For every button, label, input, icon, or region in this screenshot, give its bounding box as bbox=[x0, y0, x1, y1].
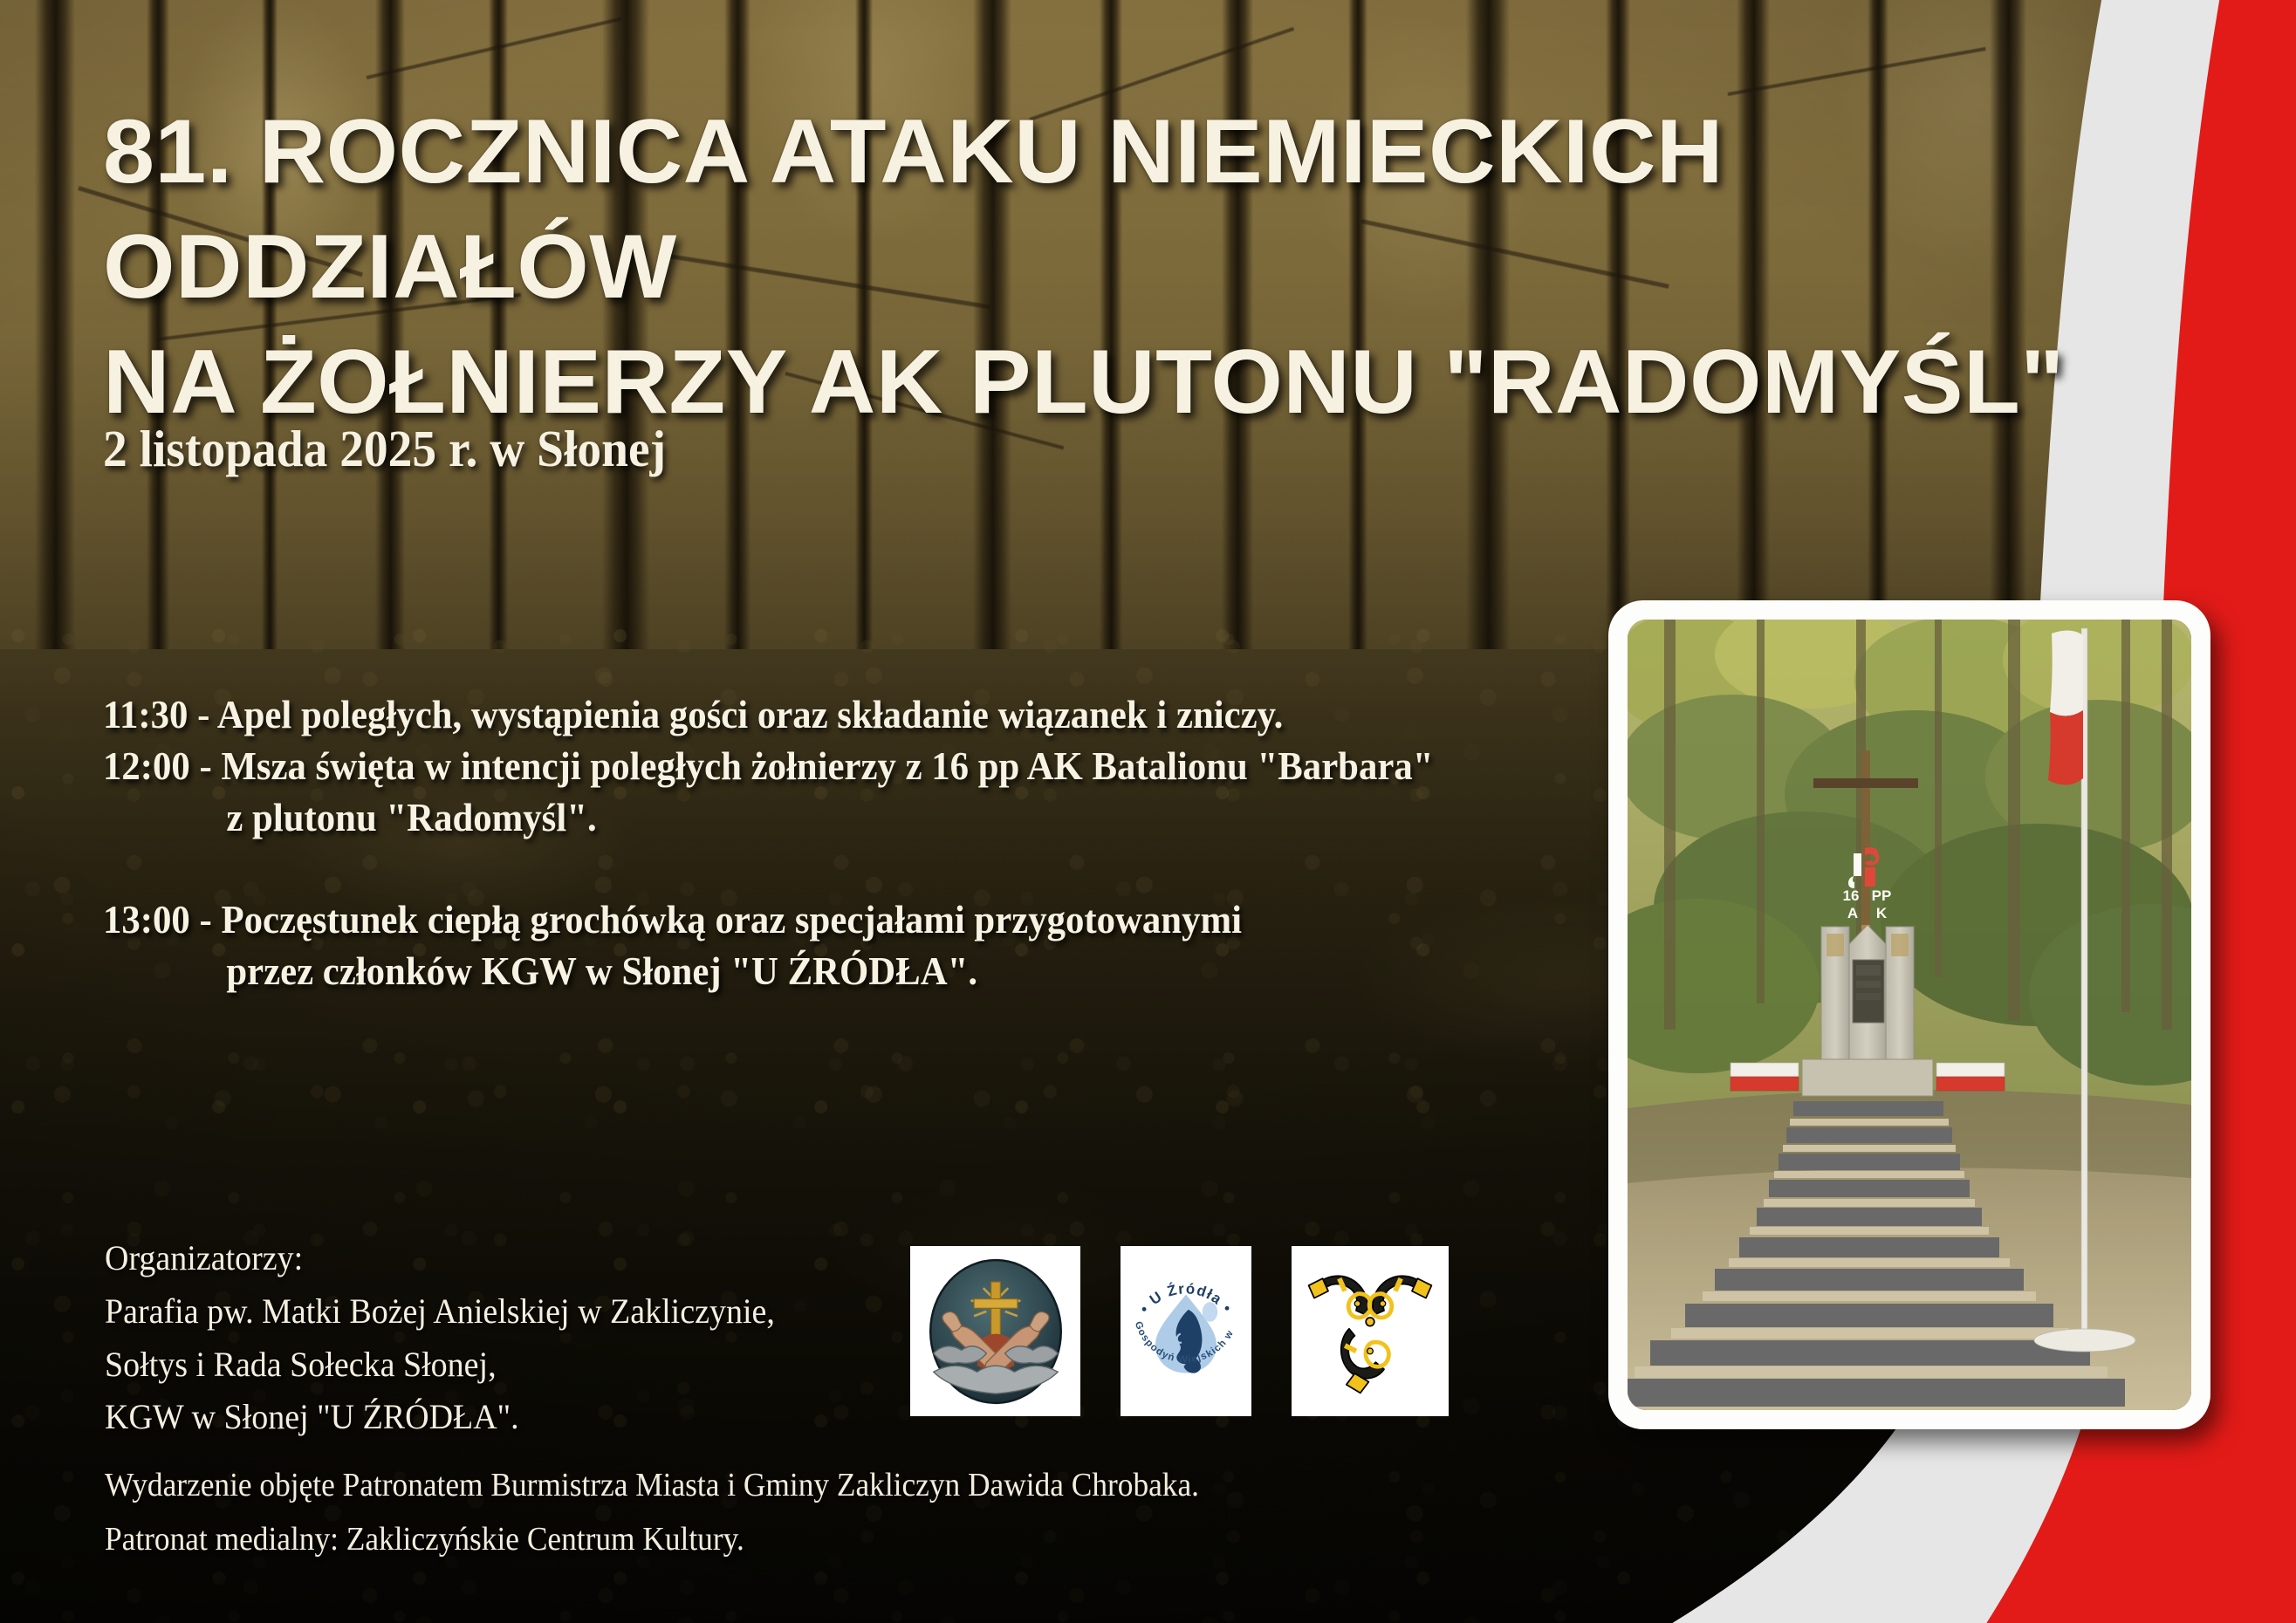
organizers-block: Organizatorzy: Parafia pw. Matki Bożej A… bbox=[105, 1232, 775, 1444]
program-item-1130: 11:30 - Apel poległych, wystąpienia gośc… bbox=[103, 689, 1532, 741]
kgw-u-zrodla-logo: • U Źródła • Koło Gospodyń Wiejskich w S… bbox=[1121, 1246, 1251, 1416]
monument-photo: 16 PP A K bbox=[1628, 620, 2191, 1410]
page-title: 81. ROCZNICA ATAKU NIEMIECKICH ODDZIAŁÓW… bbox=[103, 94, 2123, 440]
organizer-line-3: KGW w Słonej "U ŹRÓDŁA". bbox=[105, 1391, 775, 1444]
organizers-heading: Organizatorzy: bbox=[105, 1232, 775, 1285]
zakliczyn-coat-of-arms bbox=[1292, 1246, 1449, 1416]
patronage-block: Wydarzenie objęte Patronatem Burmistrza … bbox=[105, 1459, 1199, 1566]
event-date: 2 listopada 2025 r. w Słonej bbox=[103, 419, 666, 479]
parish-emblem-logo bbox=[910, 1246, 1080, 1416]
program-schedule: 11:30 - Apel poległych, wystąpienia gośc… bbox=[103, 689, 1532, 996]
logo-row: • U Źródła • Koło Gospodyń Wiejskich w S… bbox=[910, 1246, 1449, 1416]
program-item-1300: 13:00 - Poczęstunek ciepłą grochówką ora… bbox=[103, 894, 1532, 946]
organizer-line-2: Sołtys i Rada Sołecka Słonej, bbox=[105, 1339, 775, 1392]
patronage-line-1: Wydarzenie objęte Patronatem Burmistrza … bbox=[105, 1459, 1199, 1513]
program-item-1200: 12:00 - Msza święta w intencji poległych… bbox=[103, 741, 1532, 792]
commemoration-poster: 81. ROCZNICA ATAKU NIEMIECKICH ODDZIAŁÓW… bbox=[0, 0, 2296, 1623]
program-spacer bbox=[103, 844, 1532, 894]
organizer-line-1: Parafia pw. Matki Bożej Anielskiej w Zak… bbox=[105, 1285, 775, 1339]
monument-photo-card: 16 PP A K bbox=[1608, 600, 2210, 1429]
patronage-line-2: Patronat medialny: Zakliczyńskie Centrum… bbox=[105, 1513, 1199, 1567]
program-item-1200-cont: z plutonu "Radomyśl". bbox=[103, 792, 1532, 844]
program-item-1300-cont: przez członków KGW w Słonej "U ŹRÓDŁA". bbox=[103, 946, 1532, 997]
